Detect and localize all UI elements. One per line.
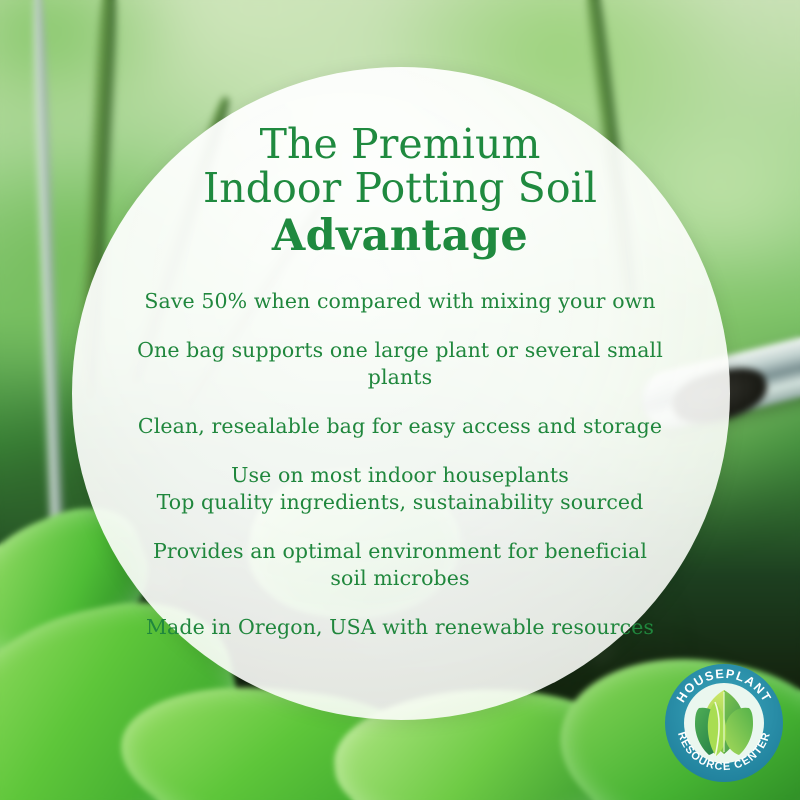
houseplant-resource-center-logo[interactable]: HOUSEPLANT RESOURCE CENTER	[663, 662, 785, 784]
headline-line-1: The Premium	[100, 122, 700, 166]
benefits-list: Save 50% when compared with mixing your …	[100, 259, 700, 641]
list-item: Clean, resealable bag for easy access an…	[136, 413, 664, 440]
page-title: The Premium Indoor Potting Soil Advantag…	[100, 67, 700, 259]
list-item: Use on most indoor houseplantsTop qualit…	[136, 462, 664, 516]
list-item: One bag supports one large plant or seve…	[136, 337, 664, 391]
poster-content: The Premium Indoor Potting Soil Advantag…	[100, 67, 700, 720]
list-item: Provides an optimal environment for bene…	[136, 538, 664, 592]
promotional-poster: The Premium Indoor Potting Soil Advantag…	[0, 0, 800, 800]
list-item: Save 50% when compared with mixing your …	[136, 288, 664, 315]
headline-line-2: Indoor Potting Soil	[100, 166, 700, 210]
headline-line-3: Advantage	[100, 211, 700, 259]
list-item: Made in Oregon, USA with renewable resou…	[136, 614, 664, 641]
